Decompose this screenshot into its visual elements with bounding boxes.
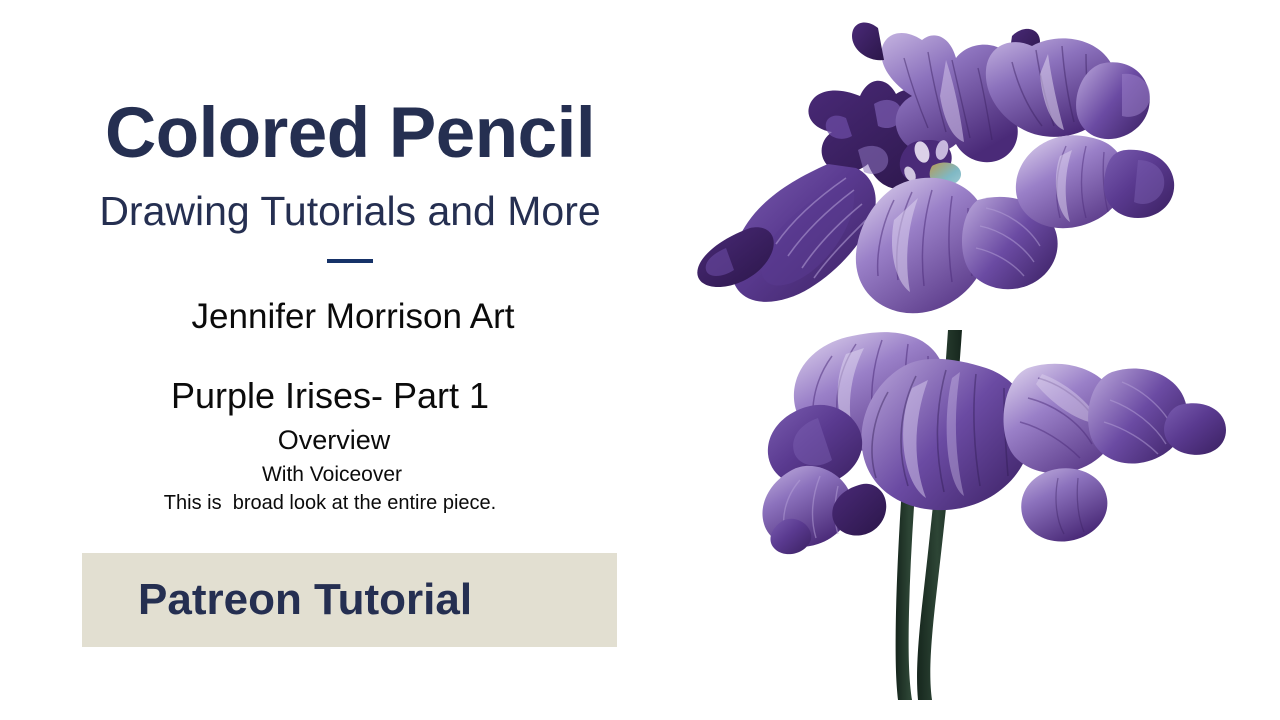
page-title: Colored Pencil [0,98,700,169]
lesson-audio-note: With Voiceover [0,464,664,485]
slide-root: Colored Pencil Drawing Tutorials and Mor… [0,0,1280,720]
lesson-section-label: Overview [0,427,668,454]
iris-bloom-lower [762,332,1226,554]
artist-name: Jennifer Morrison Art [0,299,706,334]
patreon-banner-label: Patreon Tutorial [82,575,472,625]
patreon-tutorial-banner[interactable]: Patreon Tutorial [82,553,617,647]
iris-artwork [660,0,1280,720]
lesson-title: Purple Irises- Part 1 [0,378,660,414]
lesson-description: This is broad look at the entire piece. [0,493,660,513]
page-subtitle: Drawing Tutorials and More [0,191,700,232]
title-divider [327,259,373,263]
